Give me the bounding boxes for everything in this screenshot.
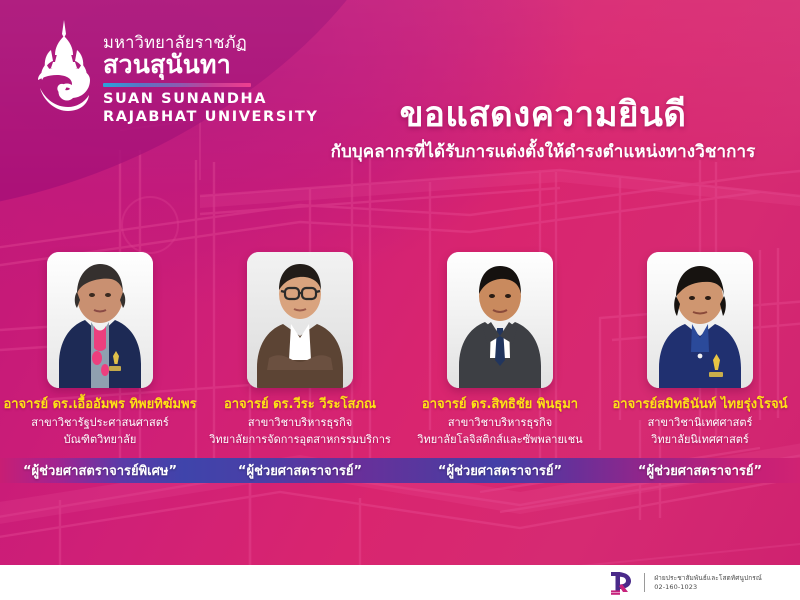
poster-canvas: มหาวิทยาลัยราชภัฏ สวนสุนันทา SUAN SUNAND… <box>0 0 800 600</box>
academic-title: “ผู้ช่วยศาสตราจารย์” <box>238 460 362 481</box>
honoree-department: สาขาวิชาบริหารธุรกิจ <box>448 415 552 432</box>
portrait-photo-1 <box>47 252 153 388</box>
honoree-list: อาจารย์ ดร.เอื้ออัมพร ทิพยทิฆัมพร สาขาวิ… <box>0 252 800 448</box>
logo-thai-line-2: สวนสุนันทา <box>103 51 318 78</box>
footer-contact: ฝ่ายประชาสัมพันธ์และโสตทัศนูปกรณ์ 02-160… <box>654 574 762 591</box>
portrait-photo-3 <box>447 252 553 388</box>
honoree-department: สาขาวิชาบริหารธุรกิจ <box>248 415 352 432</box>
honoree-faculty: วิทยาลัยการจัดการอุตสาหกรรมบริการ <box>209 432 391 449</box>
footer-divider <box>644 573 645 592</box>
poster-background: มหาวิทยาลัยราชภัฏ สวนสุนันทา SUAN SUNAND… <box>0 0 800 565</box>
academic-title: “ผู้ช่วยศาสตราจารย์พิเศษ” <box>23 460 177 481</box>
list-item: อาจารย์ ดร.เอื้ออัมพร ทิพยทิฆัมพร สาขาวิ… <box>0 252 200 448</box>
page-subtitle: กับบุคลากรที่ได้รับการแต่งตั้งให้ดำรงตำแ… <box>300 142 786 162</box>
honoree-name: อาจารย์สมิทธินันท์ ไทยรุ่งโรจน์ <box>612 397 787 412</box>
portrait-photo-2 <box>247 252 353 388</box>
ssru-emblem-icon <box>34 18 94 130</box>
ribbon-cell: “ผู้ช่วยศาสตราจารย์” <box>400 458 600 483</box>
logo-wordmark: มหาวิทยาลัยราชภัฏ สวนสุนันทา SUAN SUNAND… <box>103 18 318 126</box>
academic-title: “ผู้ช่วยศาสตราจารย์” <box>438 460 562 481</box>
list-item: อาจารย์ ดร.สิทธิชัย พินธุมา สาขาวิชาบริห… <box>400 252 600 448</box>
academic-title-ribbon: “ผู้ช่วยศาสตราจารย์พิเศษ” “ผู้ช่วยศาสตรา… <box>0 458 800 483</box>
footer-phone: 02-160-1023 <box>654 583 762 591</box>
footer-bar: ฝ่ายประชาสัมพันธ์และโสตทัศนูปกรณ์ 02-160… <box>0 565 800 600</box>
logo-gradient-rule <box>103 83 251 87</box>
portrait-photo-4 <box>647 252 753 388</box>
list-item: อาจารย์สมิทธินันท์ ไทยรุ่งโรจน์ สาขาวิชา… <box>600 252 800 448</box>
honoree-name: อาจารย์ ดร.วีระ วีระโสภณ <box>224 397 376 412</box>
academic-title: “ผู้ช่วยศาสตราจารย์” <box>638 460 762 481</box>
page-title: ขอแสดงความยินดี <box>300 96 786 135</box>
honoree-faculty: วิทยาลัยโลจิสติกส์และซัพพลายเชน <box>417 432 582 449</box>
honoree-faculty: บัณฑิตวิทยาลัย <box>64 432 137 449</box>
logo-english-line-1: SUAN SUNANDHA <box>103 91 318 108</box>
honoree-department: สาขาวิชารัฐประศาสนศาสตร์ <box>31 415 169 432</box>
ribbon-cell: “ผู้ช่วยศาสตราจารย์” <box>600 458 800 483</box>
honoree-department: สาขาวิชานิเทศศาสตร์ <box>648 415 753 432</box>
list-item: อาจารย์ ดร.วีระ วีระโสภณ สาขาวิชาบริหารธ… <box>200 252 400 448</box>
logo-english-line-2: RAJABHAT UNIVERSITY <box>103 109 318 126</box>
honoree-faculty: วิทยาลัยนิเทศศาสตร์ <box>651 432 749 449</box>
headline-block: ขอแสดงความยินดี กับบุคลากรที่ได้รับการแต… <box>300 96 786 163</box>
ribbon-cell: “ผู้ช่วยศาสตราจารย์พิเศษ” <box>0 458 200 483</box>
pr-ssru-logo-icon <box>609 570 635 596</box>
ribbon-cell: “ผู้ช่วยศาสตราจารย์” <box>200 458 400 483</box>
honoree-name: อาจารย์ ดร.สิทธิชัย พินธุมา <box>422 397 578 412</box>
honoree-name: อาจารย์ ดร.เอื้ออัมพร ทิพยทิฆัมพร <box>3 397 196 412</box>
university-logo: มหาวิทยาลัยราชภัฏ สวนสุนันทา SUAN SUNAND… <box>34 18 318 130</box>
footer-org: ฝ่ายประชาสัมพันธ์และโสตทัศนูปกรณ์ <box>654 574 762 582</box>
